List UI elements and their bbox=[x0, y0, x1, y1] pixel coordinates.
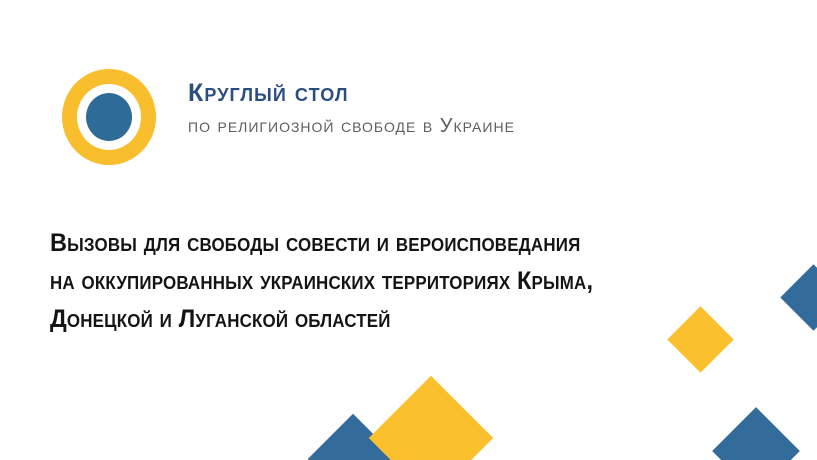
circle-ring-logo-icon bbox=[62, 69, 156, 165]
heading-line-2: на оккупированных украинских территориях… bbox=[50, 262, 736, 300]
blue-diamond-bottom-right-icon bbox=[712, 407, 800, 460]
brand-text-block: Круглый стол по религиозной свободе в Ук… bbox=[188, 81, 788, 136]
blue-diamond-right-edge-icon bbox=[780, 264, 817, 330]
yellow-diamond-bottom-center-icon bbox=[369, 376, 493, 460]
brand-subtitle: по религиозной свободе в Украине bbox=[188, 116, 788, 136]
brand-title: Круглый стол bbox=[188, 81, 788, 106]
slide-heading: Вызовы для свободы совести и вероисповед… bbox=[50, 224, 780, 338]
heading-line-1: Вызовы для свободы совести и вероисповед… bbox=[50, 224, 736, 262]
slide-header: Круглый стол по религиозной свободе в Ук… bbox=[0, 0, 817, 200]
heading-line-3: Донецкой и Луганской областей bbox=[50, 300, 736, 338]
blue-diamond-bottom-left-icon bbox=[308, 414, 399, 460]
presentation-slide: Круглый стол по религиозной свободе в Ук… bbox=[0, 0, 817, 460]
logo-inner-circle-shape bbox=[86, 93, 132, 141]
